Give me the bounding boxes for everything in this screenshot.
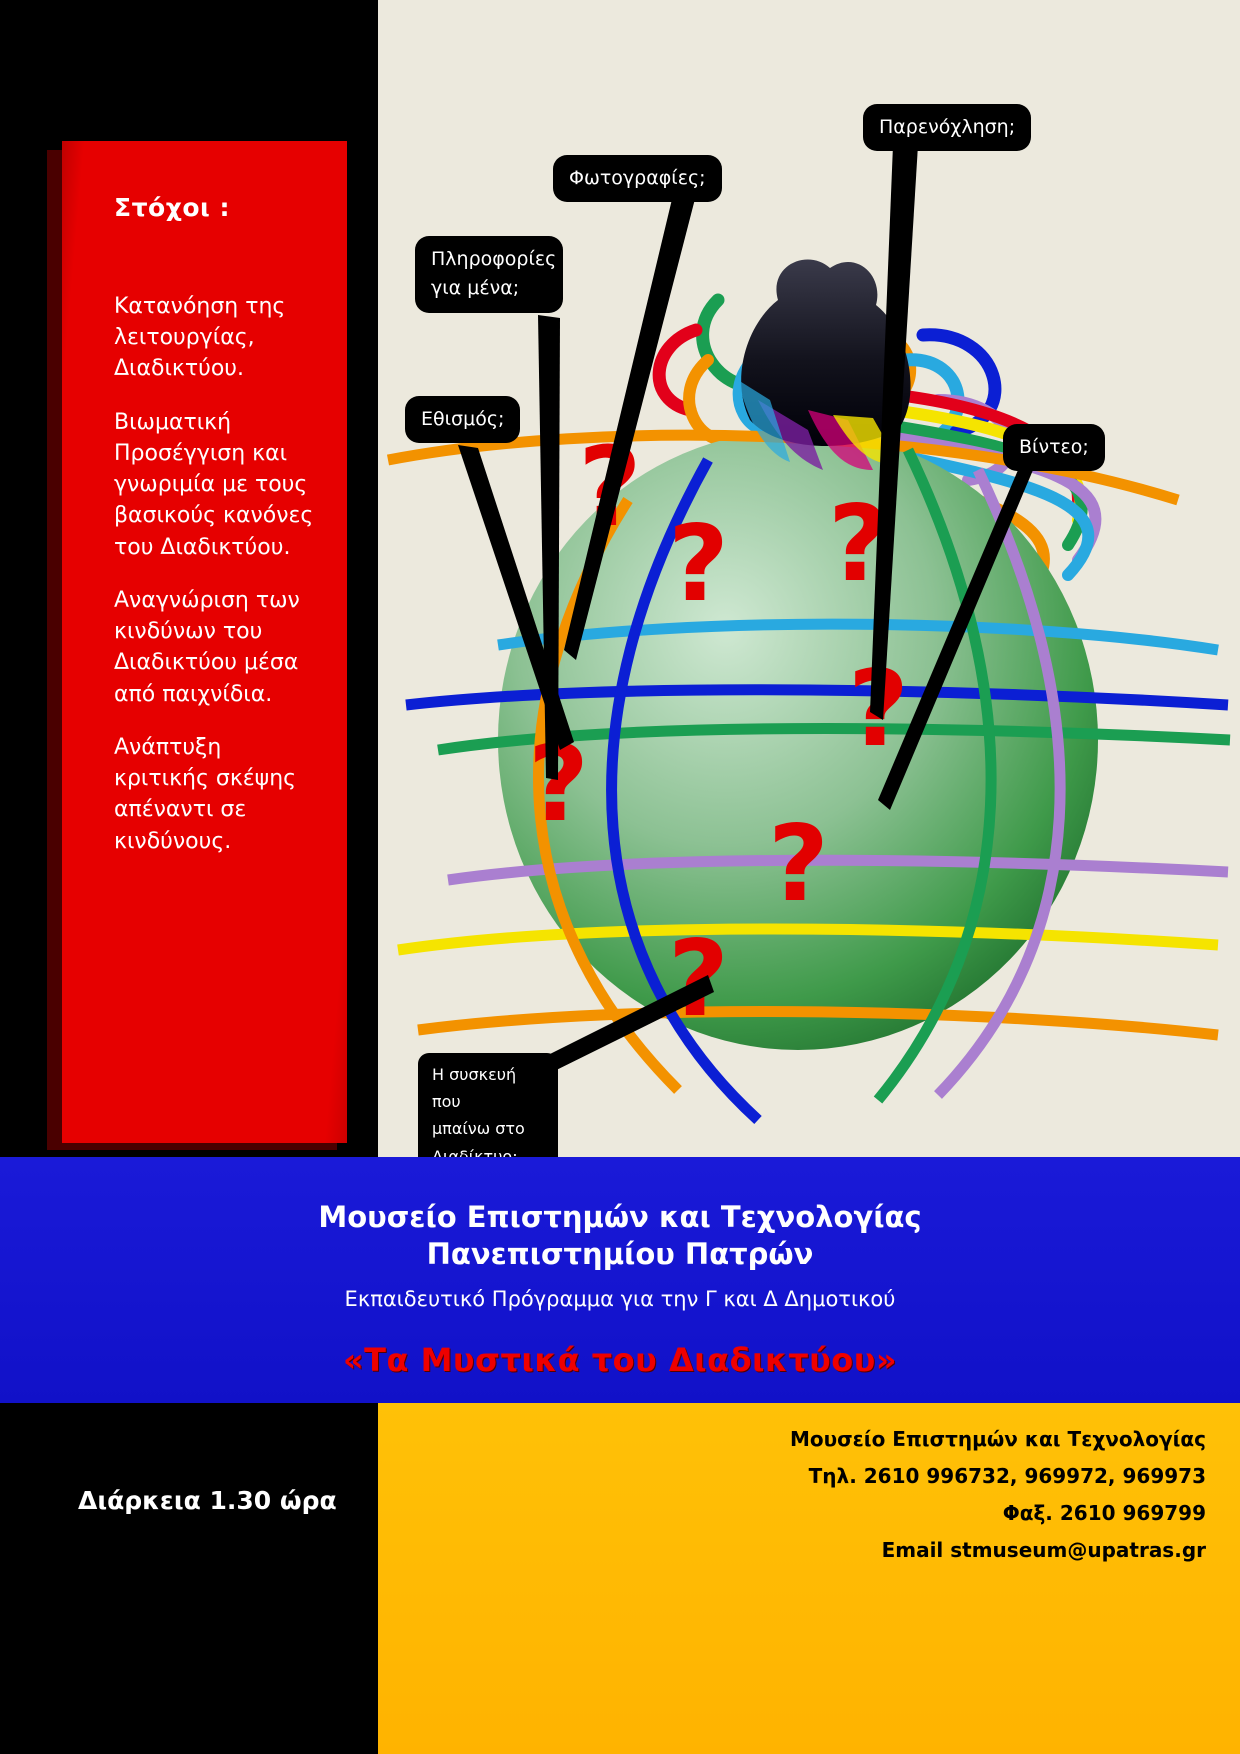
goals-list: Κατανόηση της λειτουργίας, Διαδικτύου. Β… <box>114 291 319 879</box>
goal-item: Βιωματική Προσέγγιση και γνωριμία με του… <box>114 407 319 563</box>
bubble-harassment: Παρενόχληση; <box>863 104 1031 151</box>
contact-line-fax: Φαξ. 2610 969799 <box>790 1495 1206 1532</box>
bottom-strip: Διάρκεια 1.30 ώρα Μουσείο Επιστημών και … <box>0 1403 1240 1754</box>
goal-item: Κατανόηση της λειτουργίας, Διαδικτύου. <box>114 291 319 385</box>
contact-line-email: Email stmuseum@upatras.gr <box>790 1532 1206 1569</box>
contact-line-phone: Τηλ. 2610 996732, 969972, 969973 <box>790 1458 1206 1495</box>
contact-details: Μουσείο Επιστημών και Τεχνολογίας Τηλ. 2… <box>790 1421 1206 1569</box>
bubble-info-about-me: Πληροφορίες για μένα; <box>415 236 563 313</box>
bubble-photos: Φωτογραφίες; <box>553 155 722 202</box>
footer-blue-band: Μουσείο Επιστημών και Τεχνολογίας Πανεπι… <box>0 1157 1240 1403</box>
bubble-tails <box>378 0 1240 1157</box>
goal-item: Ανάπτυξη κριτικής σκέψης απέναντι σε κιν… <box>114 732 319 857</box>
program-title: «Τα Μυστικά του Διαδικτύου» <box>0 1341 1240 1379</box>
organization-name: Μουσείο Επιστημών και Τεχνολογίας Πανεπι… <box>0 1199 1240 1273</box>
bubble-video: Βίντεο; <box>1003 424 1105 471</box>
poster-root: ? ? ? ? ? ? ? <box>0 0 1240 1754</box>
goals-panel: Στόχοι : Κατανόηση της λειτουργίας, Διαδ… <box>62 141 347 1143</box>
bubble-device: Η συσκευή που μπαίνω στο Διαδίκτυο; <box>418 1053 558 1157</box>
bubble-addiction: Εθισμός; <box>405 396 520 443</box>
contact-line-org: Μουσείο Επιστημών και Τεχνολογίας <box>790 1421 1206 1458</box>
duration-label: Διάρκεια 1.30 ώρα <box>78 1486 337 1515</box>
organization-line-2: Πανεπιστημίου Πατρών <box>0 1236 1240 1273</box>
artwork-panel: ? ? ? ? ? ? ? <box>378 0 1240 1157</box>
organization-line-1: Μουσείο Επιστημών και Τεχνολογίας <box>0 1199 1240 1236</box>
goal-item: Αναγνώριση των κινδύνων του Διαδικτύου μ… <box>114 585 319 710</box>
contact-box: Μουσείο Επιστημών και Τεχνολογίας Τηλ. 2… <box>378 1403 1240 1754</box>
program-subtitle: Εκπαιδευτικό Πρόγραμμα για την Γ και Δ Δ… <box>0 1287 1240 1311</box>
goals-title: Στόχοι : <box>114 193 230 222</box>
